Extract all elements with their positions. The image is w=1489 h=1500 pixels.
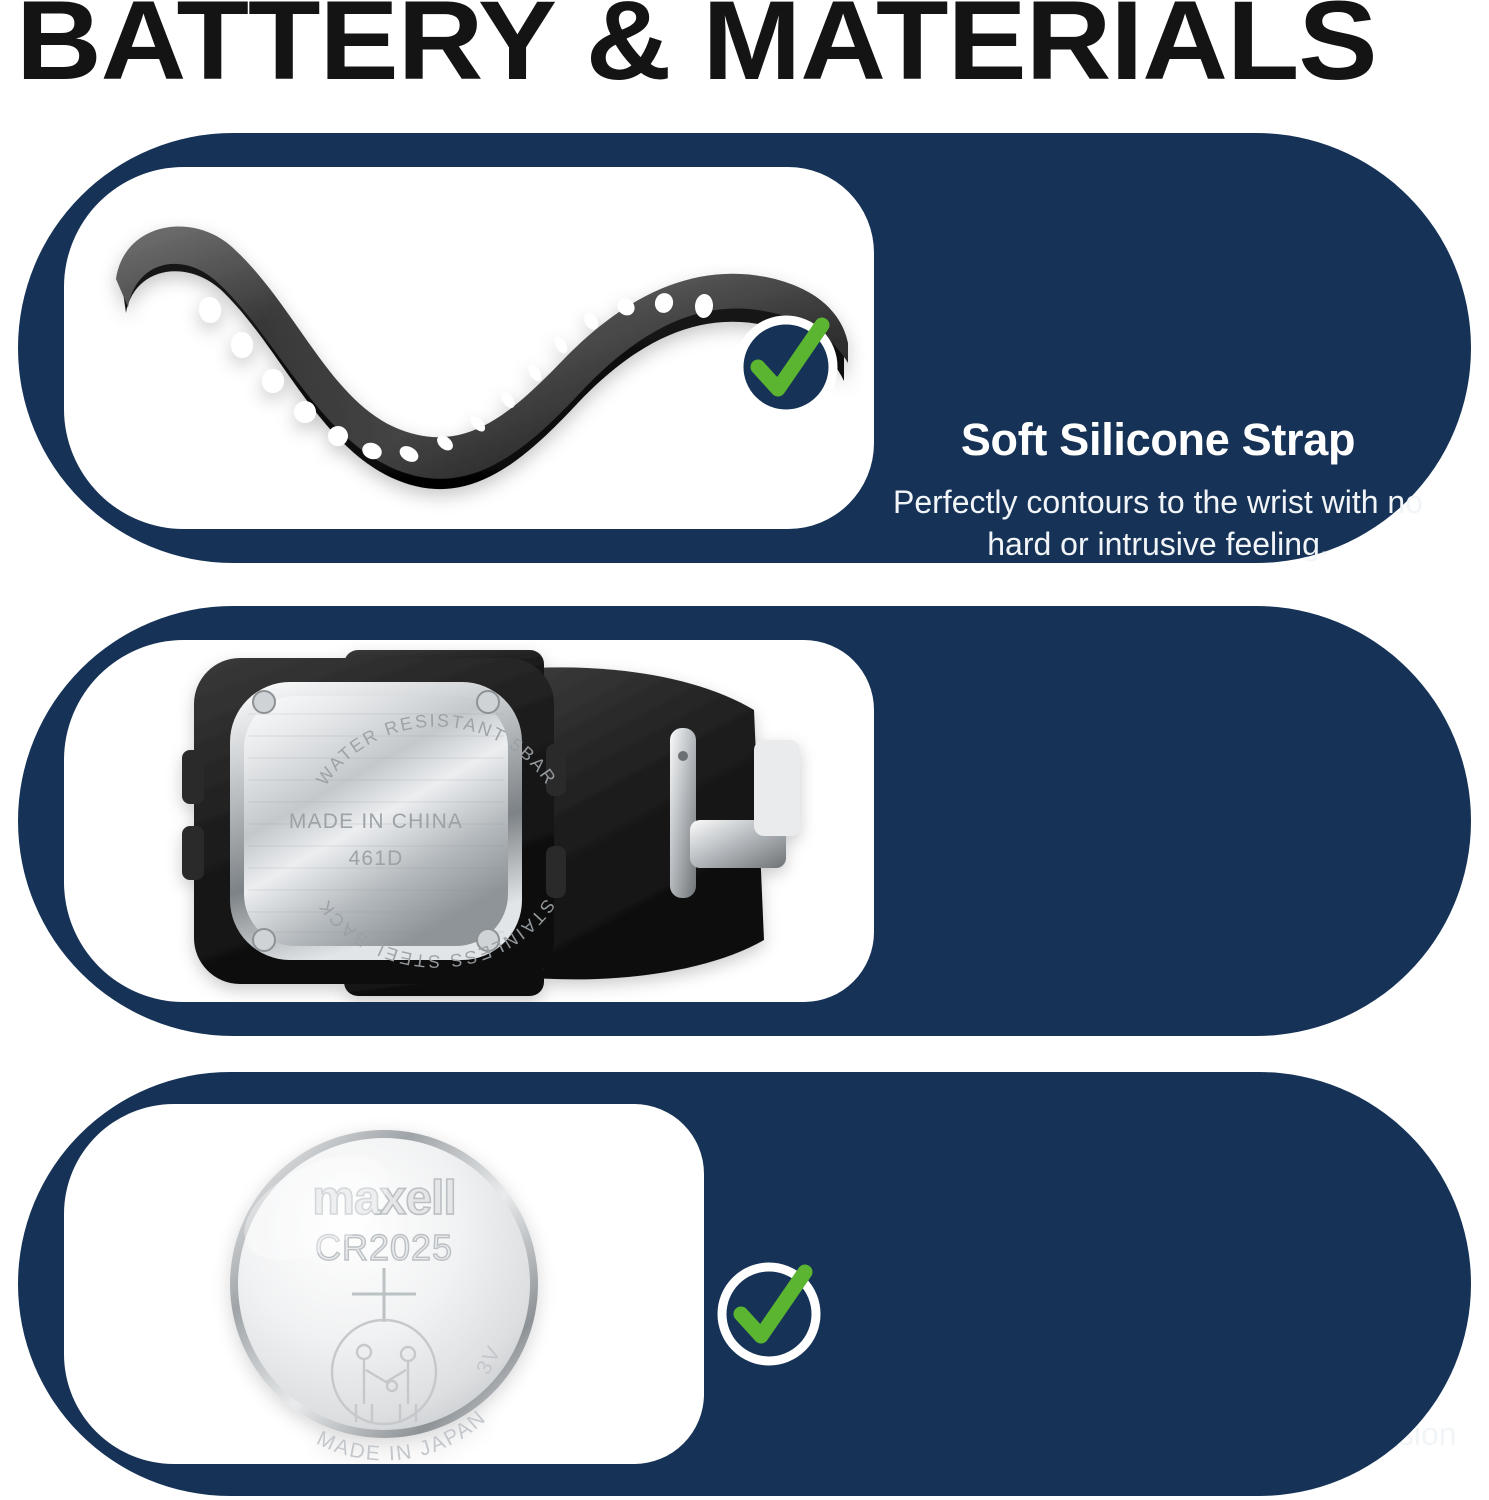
caseback-photo: WATER RESISTANT 5BAR MADE IN CHINA 461D …	[64, 640, 874, 1002]
page-title: BATTERY & MATERIALS	[16, 0, 1489, 96]
panel-photo-plate: maxell CR2025	[64, 1104, 704, 1464]
battery-photo: maxell CR2025	[64, 1104, 704, 1464]
panel-text-block: Soft Silicone Strap Perfectly contours t…	[858, 413, 1458, 565]
feature-panel-stainless-steel-case-back: WATER RESISTANT 5BAR MADE IN CHINA 461D …	[18, 606, 1471, 1036]
green-check-badge	[730, 309, 842, 421]
watch-caseback-illustration: WATER RESISTANT 5BAR MADE IN CHINA 461D …	[64, 640, 874, 1002]
feature-title: Soft Silicone Strap	[858, 413, 1458, 467]
green-check-badge	[713, 1256, 825, 1368]
caseback-engraving-line-1: MADE IN CHINA	[289, 810, 463, 833]
feature-panel-soft-silicone-strap: Soft Silicone Strap Perfectly contours t…	[18, 133, 1471, 563]
coin-cell-battery-illustration: maxell CR2025	[64, 1104, 704, 1464]
caseback-engraving-line-2: 461D	[348, 847, 403, 870]
panel-photo-plate: WATER RESISTANT 5BAR MADE IN CHINA 461D …	[64, 640, 874, 1002]
product-feature-infographic: BATTERY & MATERIALS	[0, 0, 1489, 1500]
feature-description: Perfectly contours to the wrist with no …	[858, 481, 1458, 565]
